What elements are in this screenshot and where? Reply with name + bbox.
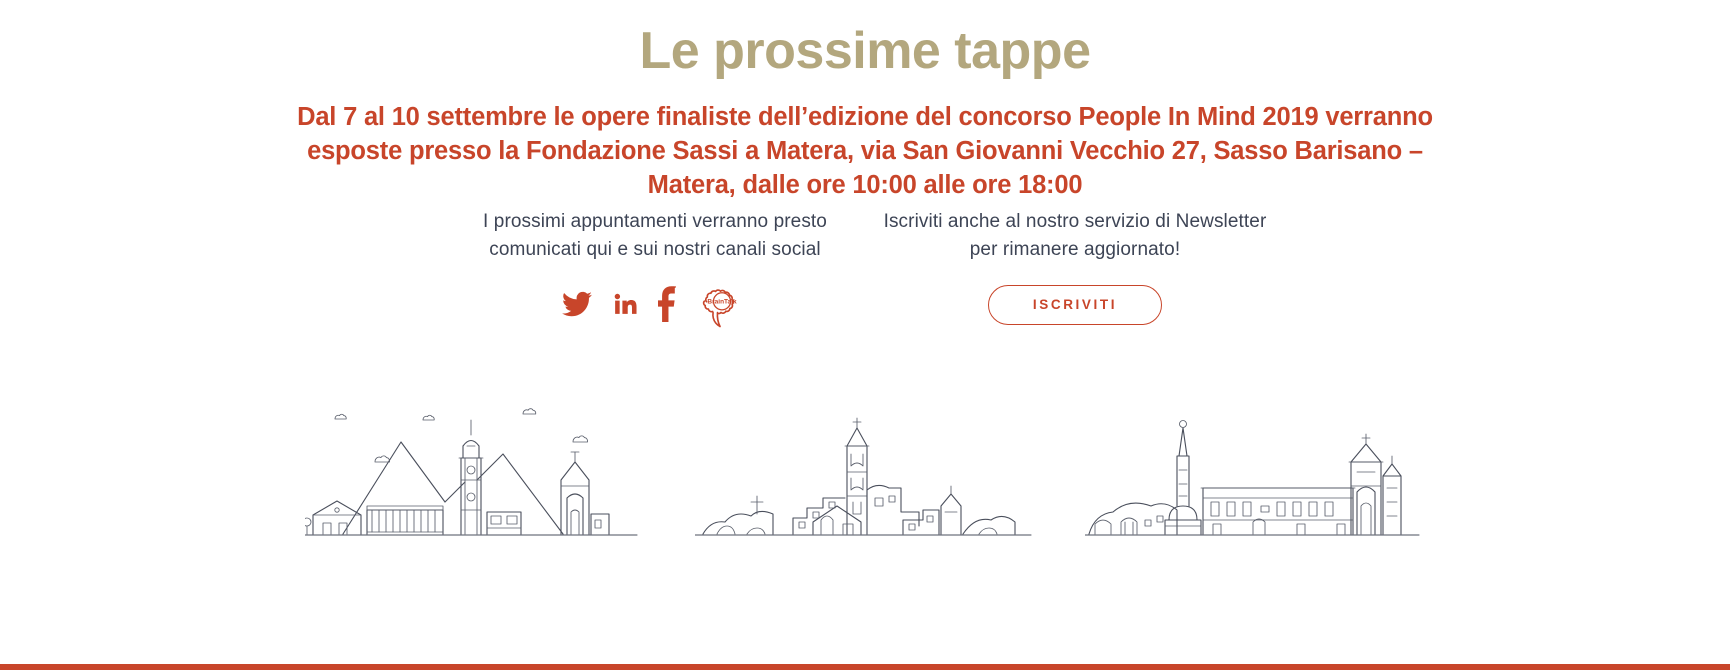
column-social: I prossimi appuntamenti verranno presto … bbox=[455, 208, 855, 333]
content-columns: I prossimi appuntamenti verranno presto … bbox=[0, 208, 1730, 333]
braintalk-wordmark: BrainTalk bbox=[707, 299, 737, 306]
newsletter-button-wrap: ISCRIVITI bbox=[875, 285, 1275, 325]
linkedin-icon[interactable] bbox=[612, 289, 638, 317]
newsletter-intro-text: Iscriviti anche al nostro servizio di Ne… bbox=[875, 208, 1275, 263]
facebook-icon[interactable] bbox=[658, 289, 676, 319]
skyline-palace-obelisk bbox=[1085, 402, 1425, 552]
skyline-illustrations bbox=[0, 392, 1730, 552]
skyline-mountains-clocktower bbox=[305, 402, 645, 552]
braintalk-icon[interactable]: BrainTalk bbox=[696, 281, 748, 333]
bottom-accent-bar bbox=[0, 664, 1730, 670]
announcement-text: Dal 7 al 10 settembre le opere finaliste… bbox=[265, 101, 1465, 203]
social-intro-text: I prossimi appuntamenti verranno presto … bbox=[455, 208, 855, 263]
skyline-matera-sassi bbox=[695, 402, 1035, 552]
column-newsletter: Iscriviti anche al nostro servizio di Ne… bbox=[875, 208, 1275, 325]
social-links: BrainTalk bbox=[455, 289, 855, 333]
page-root: Le prossime tappe Dal 7 al 10 settembre … bbox=[0, 0, 1730, 670]
subscribe-button[interactable]: ISCRIVITI bbox=[988, 285, 1162, 325]
twitter-icon[interactable] bbox=[562, 289, 592, 319]
page-title: Le prossime tappe bbox=[0, 22, 1730, 82]
